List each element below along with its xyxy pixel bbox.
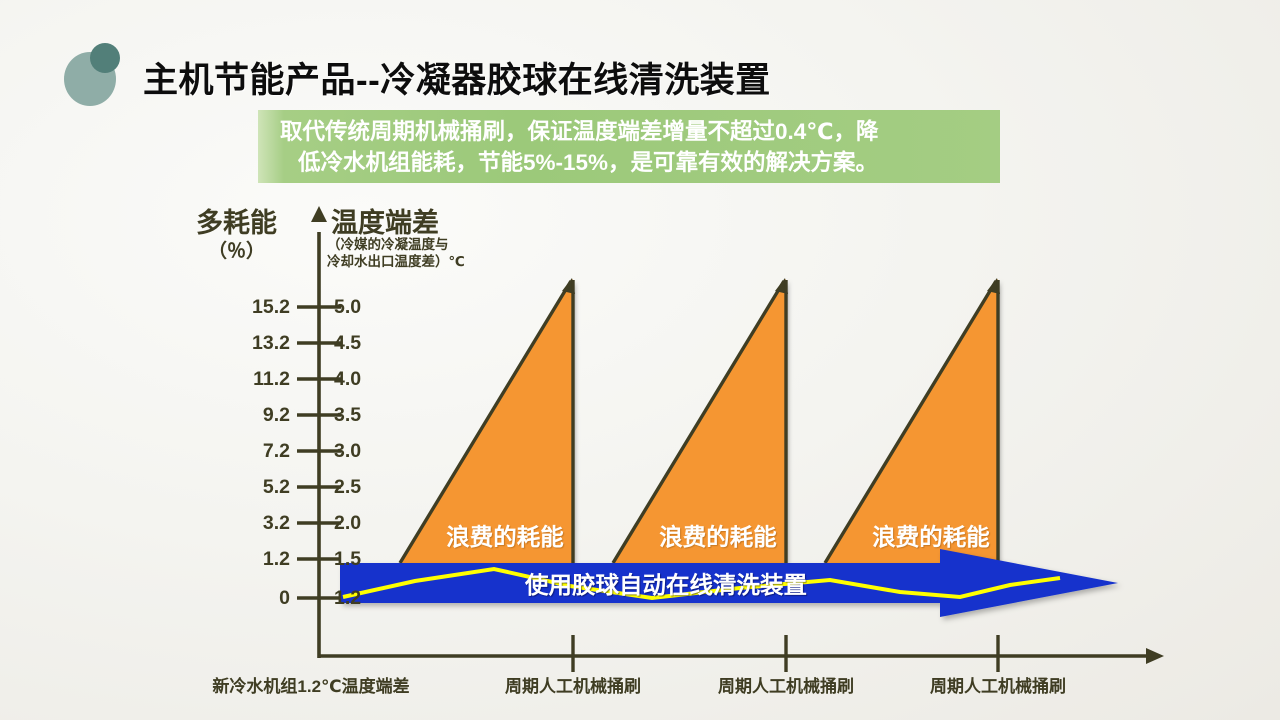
tick-label-right-4: 3.0 bbox=[334, 440, 361, 463]
annotation-wasted-energy-2: 浪费的耗能 bbox=[659, 518, 777, 552]
tick-label-left-0: 15.2 bbox=[228, 296, 290, 319]
tick-label-right-1: 4.5 bbox=[334, 332, 361, 355]
tick-label-right-7: 1.5 bbox=[334, 548, 361, 571]
y-axis-arrowhead bbox=[311, 206, 327, 222]
tick-label-right-6: 2.0 bbox=[334, 512, 361, 535]
tick-label-right-0: 5.0 bbox=[334, 296, 361, 319]
tick-label-right-8: 1.2 bbox=[334, 587, 361, 610]
x-axis-label-1: 周期人工机械捅刷 bbox=[505, 672, 641, 697]
tick-label-left-6: 3.2 bbox=[228, 512, 290, 535]
annotation-wasted-energy-3: 浪费的耗能 bbox=[872, 518, 990, 552]
tick-label-left-2: 11.2 bbox=[228, 368, 290, 391]
x-axis-label-0: 新冷水机组1.2℃温度端差 bbox=[212, 672, 409, 697]
annotation-ball-cleaning: 使用胶球自动在线清洗装置 bbox=[525, 566, 807, 600]
tick-label-left-3: 9.2 bbox=[228, 404, 290, 427]
slide-canvas: 主机节能产品--冷凝器胶球在线清洗装置 取代传统周期机械捅刷，保证温度端差增量不… bbox=[0, 0, 1280, 720]
tick-label-left-1: 13.2 bbox=[228, 332, 290, 355]
annotation-wasted-energy-1: 浪费的耗能 bbox=[446, 518, 564, 552]
tick-label-right-2: 4.0 bbox=[334, 368, 361, 391]
tick-label-left-5: 5.2 bbox=[228, 476, 290, 499]
axis-title-right: 温度端差 bbox=[331, 201, 439, 240]
tick-label-right-3: 3.5 bbox=[334, 404, 361, 427]
axis-unit-left: （％） bbox=[208, 236, 265, 263]
tick-label-left-7: 1.2 bbox=[228, 548, 290, 571]
x-axis-ticks bbox=[573, 635, 998, 672]
axis-subtitle-right: （冷媒的冷凝温度与 冷却水出口温度差）℃ bbox=[327, 236, 465, 270]
axis-subtitle-right-line2: 冷却水出口温度差）℃ bbox=[327, 253, 465, 270]
x-axis-label-3: 周期人工机械捅刷 bbox=[930, 672, 1066, 697]
energy-waste-chart bbox=[0, 0, 1280, 720]
axis-subtitle-right-line1: （冷媒的冷凝温度与 bbox=[327, 236, 465, 253]
tick-label-left-8: 0 bbox=[228, 587, 290, 610]
axis-title-left: 多耗能 bbox=[196, 201, 277, 240]
tick-label-right-5: 2.5 bbox=[334, 476, 361, 499]
x-axis-label-2: 周期人工机械捅刷 bbox=[718, 672, 854, 697]
x-axis-arrowhead bbox=[1146, 648, 1164, 664]
tick-label-left-4: 7.2 bbox=[228, 440, 290, 463]
